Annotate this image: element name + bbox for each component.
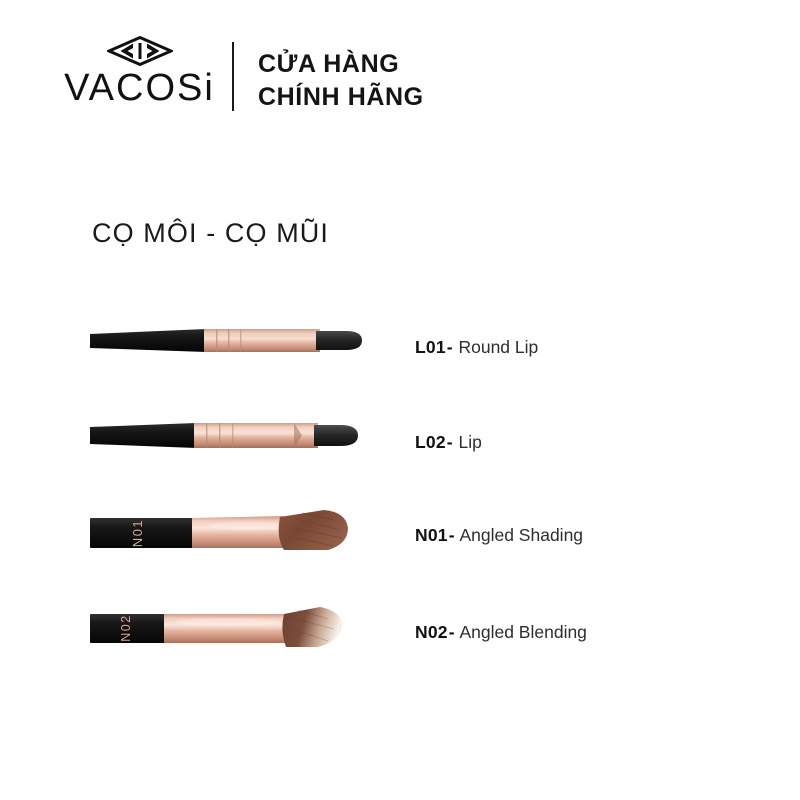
brush-image-n02: N02 xyxy=(88,581,388,676)
brush-bristles-n01 xyxy=(279,510,348,550)
product-description-l01: Round Lip xyxy=(458,337,538,357)
product-code-l02: L02 xyxy=(415,432,446,452)
brush-handle-l02 xyxy=(90,423,196,448)
product-separator-l01: - xyxy=(446,337,454,357)
product-code-l01: L01 xyxy=(415,337,446,357)
handle-print-n02: N02 xyxy=(119,614,133,641)
brush-bristles-l02 xyxy=(314,425,358,446)
section-title: CỌ MÔI - CỌ MŨI xyxy=(92,218,329,249)
brush-ferrule-l01 xyxy=(204,329,320,352)
product-code-n02: N02 xyxy=(415,622,448,642)
wordmark-main: VACOS xyxy=(64,67,204,109)
header-divider xyxy=(232,42,234,111)
product-description-l02: Lip xyxy=(458,432,481,452)
product-row-l01[interactable]: L01- Round Lip xyxy=(0,296,800,391)
brush-ferrule-n02 xyxy=(164,614,288,643)
store-tagline-line-1: CỬA HÀNG xyxy=(258,48,424,81)
wordmark-dotted-i: i xyxy=(204,67,214,109)
brush-ferrule-n01 xyxy=(192,516,288,548)
brush-bristles-n02 xyxy=(282,607,342,647)
product-label-l01: L01- Round Lip xyxy=(415,337,538,358)
vacosi-logo[interactable]: VACOSi xyxy=(62,36,217,108)
product-row-l02[interactable]: L02- Lip xyxy=(0,391,800,486)
handle-print-n01: N01 xyxy=(130,519,145,547)
vacosi-wordmark: VACOSi xyxy=(62,68,217,108)
vacosi-diamond-emblem xyxy=(107,36,173,66)
product-code-n01: N01 xyxy=(415,525,448,545)
product-label-n01: N01- Angled Shading xyxy=(415,525,583,546)
store-tagline-line-2: CHÍNH HÃNG xyxy=(258,81,424,114)
store-tagline: CỬA HÀNG CHÍNH HÃNG xyxy=(258,48,424,114)
brush-image-l01 xyxy=(88,296,388,391)
product-separator-n02: - xyxy=(448,622,456,642)
brush-bristles-l01 xyxy=(316,331,362,350)
product-row-n01[interactable]: N01 N01- Angled Shading xyxy=(0,486,800,581)
product-description-n01: Angled Shading xyxy=(459,525,583,545)
brush-handle-l01 xyxy=(90,329,206,352)
brand-header: VACOSi CỬA HÀNG CHÍNH HÃNG xyxy=(0,0,800,150)
product-separator-l02: - xyxy=(446,432,454,452)
product-description-n02: Angled Blending xyxy=(459,622,586,642)
product-label-n02: N02- Angled Blending xyxy=(415,622,587,643)
brush-image-l02 xyxy=(88,391,388,486)
brush-image-n01: N01 xyxy=(88,486,388,581)
product-label-l02: L02- Lip xyxy=(415,432,482,453)
product-row-n02[interactable]: N02 N02- Angled Blending xyxy=(0,581,800,676)
product-list: L01- Round Lip xyxy=(0,296,800,676)
product-separator-n01: - xyxy=(448,525,456,545)
